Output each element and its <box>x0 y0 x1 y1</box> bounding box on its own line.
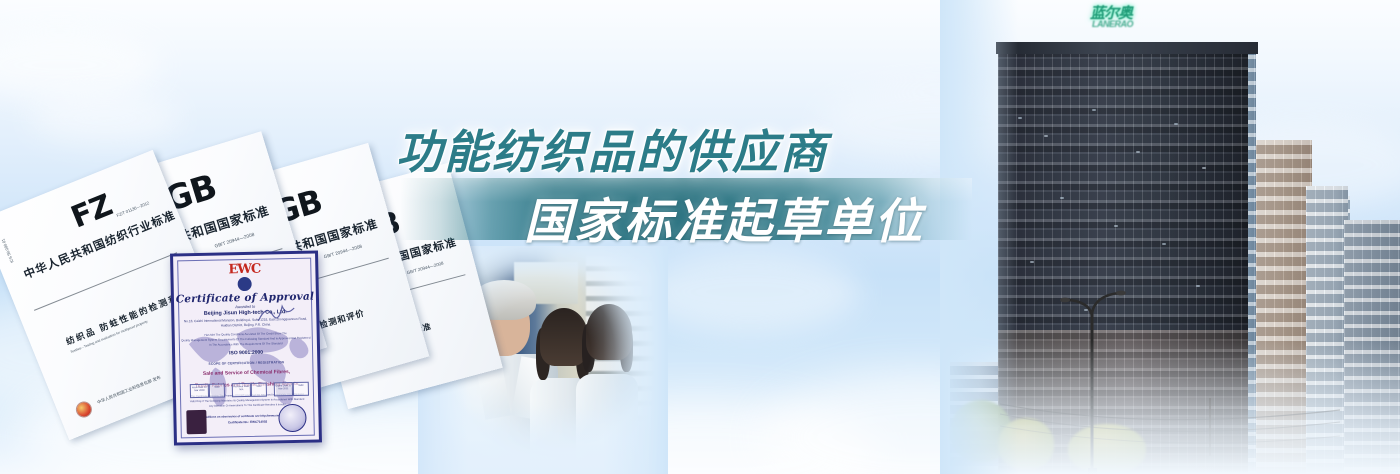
document-code: FZ/T 01136—2012 <box>116 201 150 218</box>
office-building-photo: 蓝尔奥 LANERAO <box>940 0 1400 474</box>
promo-banner: 蓝尔奥 LANERAO <box>0 0 1400 474</box>
certificate-date-box: Issue Date 12 Mar 2008 <box>190 384 209 398</box>
cloud-shape <box>30 92 180 144</box>
headline-line-2: 国家标准起草单位 <box>524 182 924 252</box>
window-mullions <box>1344 220 1400 474</box>
main-tower-crown <box>996 42 1258 54</box>
hair <box>586 304 632 360</box>
background-tower-grey <box>1344 220 1400 474</box>
certificate-date-box: Re-Issue Date N/A <box>232 383 251 397</box>
document-ics-mark: ICS 59.080.01 <box>1 238 14 263</box>
ukas-accreditation-mark <box>186 410 206 434</box>
headline-band <box>400 178 972 240</box>
hair <box>540 308 588 366</box>
certificates-stack: GB 中华人民共和国国家标准 GB/T 20944—2008 抗菌性能检测标准 … <box>0 150 480 450</box>
document-code: GB/T 20944—2008 <box>215 234 256 251</box>
certificate-date-box: Expiry Date 11 Mar 2011 <box>274 382 293 396</box>
signature-mark <box>256 300 297 327</box>
document-code: GB/T 20944—2008 <box>323 245 362 260</box>
iso-certificate: EWC Certificate of Approval Awarded to B… <box>170 250 322 445</box>
cloud-shape <box>0 30 160 100</box>
power-lines <box>1000 392 1340 462</box>
lab-coat <box>576 374 638 474</box>
national-emblem-icon <box>75 400 93 418</box>
document-footer: 中华人民共和国工业和信息化部 发布 <box>97 376 162 405</box>
rooftop-sign-subtext: LANERAO <box>1092 20 1133 29</box>
headline-band-gloss <box>400 178 972 202</box>
document-code: GB/T 20944—2008 <box>406 262 444 276</box>
cloud-shape <box>640 252 860 332</box>
certificate-status-box: Valid <box>251 383 267 397</box>
ewc-logo: EWC <box>173 261 315 279</box>
fz-badge: FZ <box>67 191 116 234</box>
certificate-status-box: Valid <box>209 383 225 397</box>
certificate-status-box: Valid <box>293 382 309 396</box>
